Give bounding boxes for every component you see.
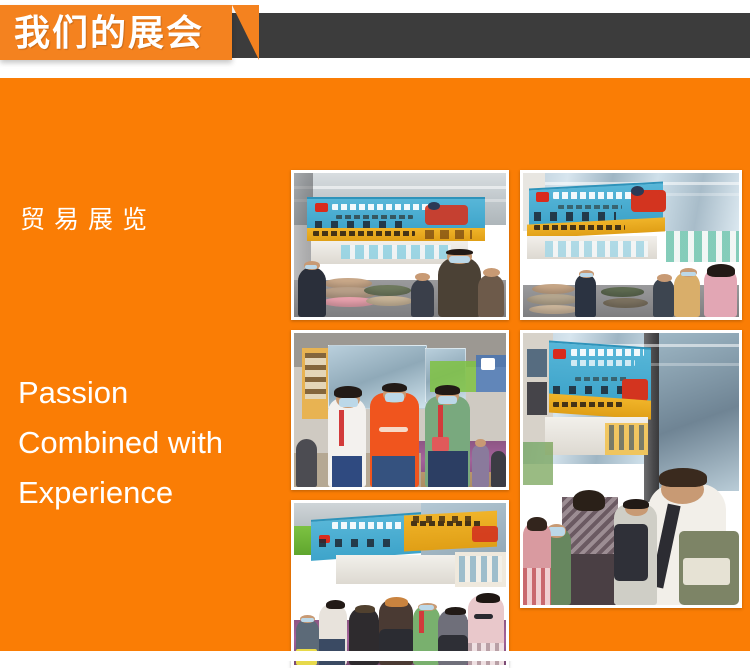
tagline-line-2: Combined with xyxy=(18,418,278,468)
tagline-line-3: Experience xyxy=(18,468,278,518)
exhibition-photo xyxy=(291,330,509,490)
page-title: 我们的展会 xyxy=(14,9,204,57)
exhibition-photo xyxy=(520,330,742,608)
tagline-block: Passion Combined with Experience xyxy=(18,368,278,518)
bottom-white-strip xyxy=(0,651,750,661)
exhibition-photo xyxy=(520,170,742,320)
exhibition-photo xyxy=(291,170,509,320)
section-subtitle-cn: 贸易展览 xyxy=(20,200,156,236)
header-orange-banner: 我们的展会 xyxy=(0,5,232,60)
exhibition-photo xyxy=(291,500,509,668)
tagline-line-1: Passion xyxy=(18,368,278,418)
header-dark-bar xyxy=(215,13,750,58)
page-header: 我们的展会 xyxy=(0,0,750,78)
content-panel: 贸易展览 Passion Combined with Experience xyxy=(0,78,750,651)
